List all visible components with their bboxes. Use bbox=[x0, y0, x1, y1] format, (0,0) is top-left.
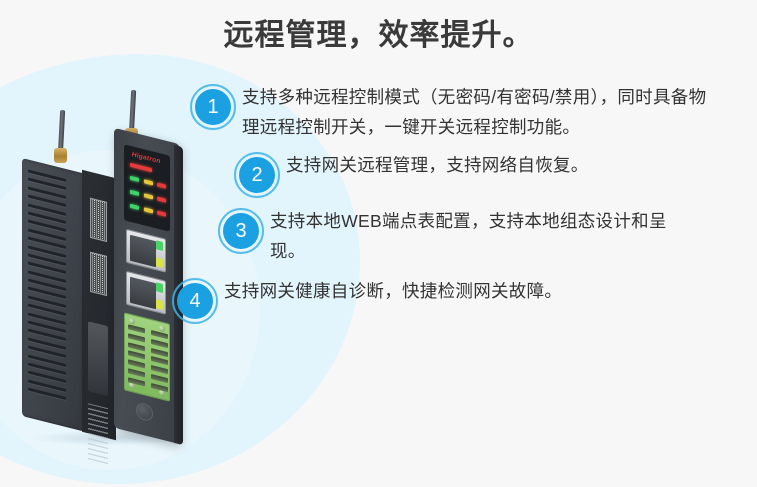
feature-item-1: 1 支持多种远程控制模式（无密码/有密码/禁用），同时具备物理远程控制开关，一键… bbox=[190, 82, 750, 142]
feature-text-2: 支持网关远程管理，支持网络自恢复。 bbox=[280, 150, 589, 180]
ethernet-activity-led-icon bbox=[156, 257, 163, 268]
feature-badge-2: 2 bbox=[234, 152, 280, 198]
feature-badge-4: 4 bbox=[172, 278, 218, 324]
side-spec-text-icon bbox=[88, 403, 108, 464]
sma-connector-left-icon bbox=[54, 148, 67, 163]
reset-button bbox=[136, 401, 153, 422]
badge-number: 1 bbox=[195, 89, 231, 125]
ventilation-grille bbox=[28, 170, 66, 415]
feature-badge-3: 3 bbox=[218, 208, 264, 254]
feature-item-4: 4 支持网关健康自诊断，快捷检测网关故障。 bbox=[172, 276, 750, 324]
device-front-panel: Higatron bbox=[114, 128, 180, 444]
feature-text-1: 支持多种远程控制模式（无密码/有密码/禁用），同时具备物理远程控制开关，一键开关… bbox=[236, 82, 716, 142]
device-label-strip bbox=[82, 170, 116, 440]
ethernet-activity-led-icon bbox=[156, 299, 163, 310]
feature-text-4: 支持网关健康自诊断，快捷检测网关故障。 bbox=[218, 276, 562, 306]
brand-logo: Higatron bbox=[132, 151, 161, 165]
device-side-panel bbox=[22, 158, 86, 432]
badge-number: 3 bbox=[223, 213, 259, 249]
feature-item-3: 3 支持本地WEB端点表配置，支持本地组态设计和呈现。 bbox=[218, 206, 750, 266]
qr-label-bottom-icon bbox=[90, 252, 107, 296]
ethernet-port-2 bbox=[126, 271, 166, 315]
antenna-left-icon bbox=[58, 110, 65, 152]
feature-item-2: 2 支持网关远程管理，支持网络自恢复。 bbox=[234, 150, 750, 198]
terminal-block bbox=[124, 312, 170, 401]
antenna-right-icon bbox=[129, 90, 136, 132]
ethernet-link-led-icon bbox=[156, 240, 163, 251]
qr-label-top-icon bbox=[90, 198, 107, 242]
device-illustration: Higatron bbox=[22, 88, 212, 448]
badge-number: 2 bbox=[239, 157, 275, 193]
ethernet-link-led-icon bbox=[156, 282, 163, 293]
ethernet-port-1 bbox=[126, 229, 166, 273]
feature-badge-1: 1 bbox=[190, 84, 236, 130]
feature-text-3: 支持本地WEB端点表配置，支持本地组态设计和呈现。 bbox=[264, 206, 694, 266]
led-indicator-panel: Higatron bbox=[124, 144, 170, 231]
feature-list: 1 支持多种远程控制模式（无密码/有密码/禁用），同时具备物理远程控制开关，一键… bbox=[190, 80, 750, 332]
badge-number: 4 bbox=[177, 283, 213, 319]
side-brand-mark-icon bbox=[88, 321, 108, 396]
page-title: 远程管理，效率提升。 bbox=[0, 10, 757, 54]
